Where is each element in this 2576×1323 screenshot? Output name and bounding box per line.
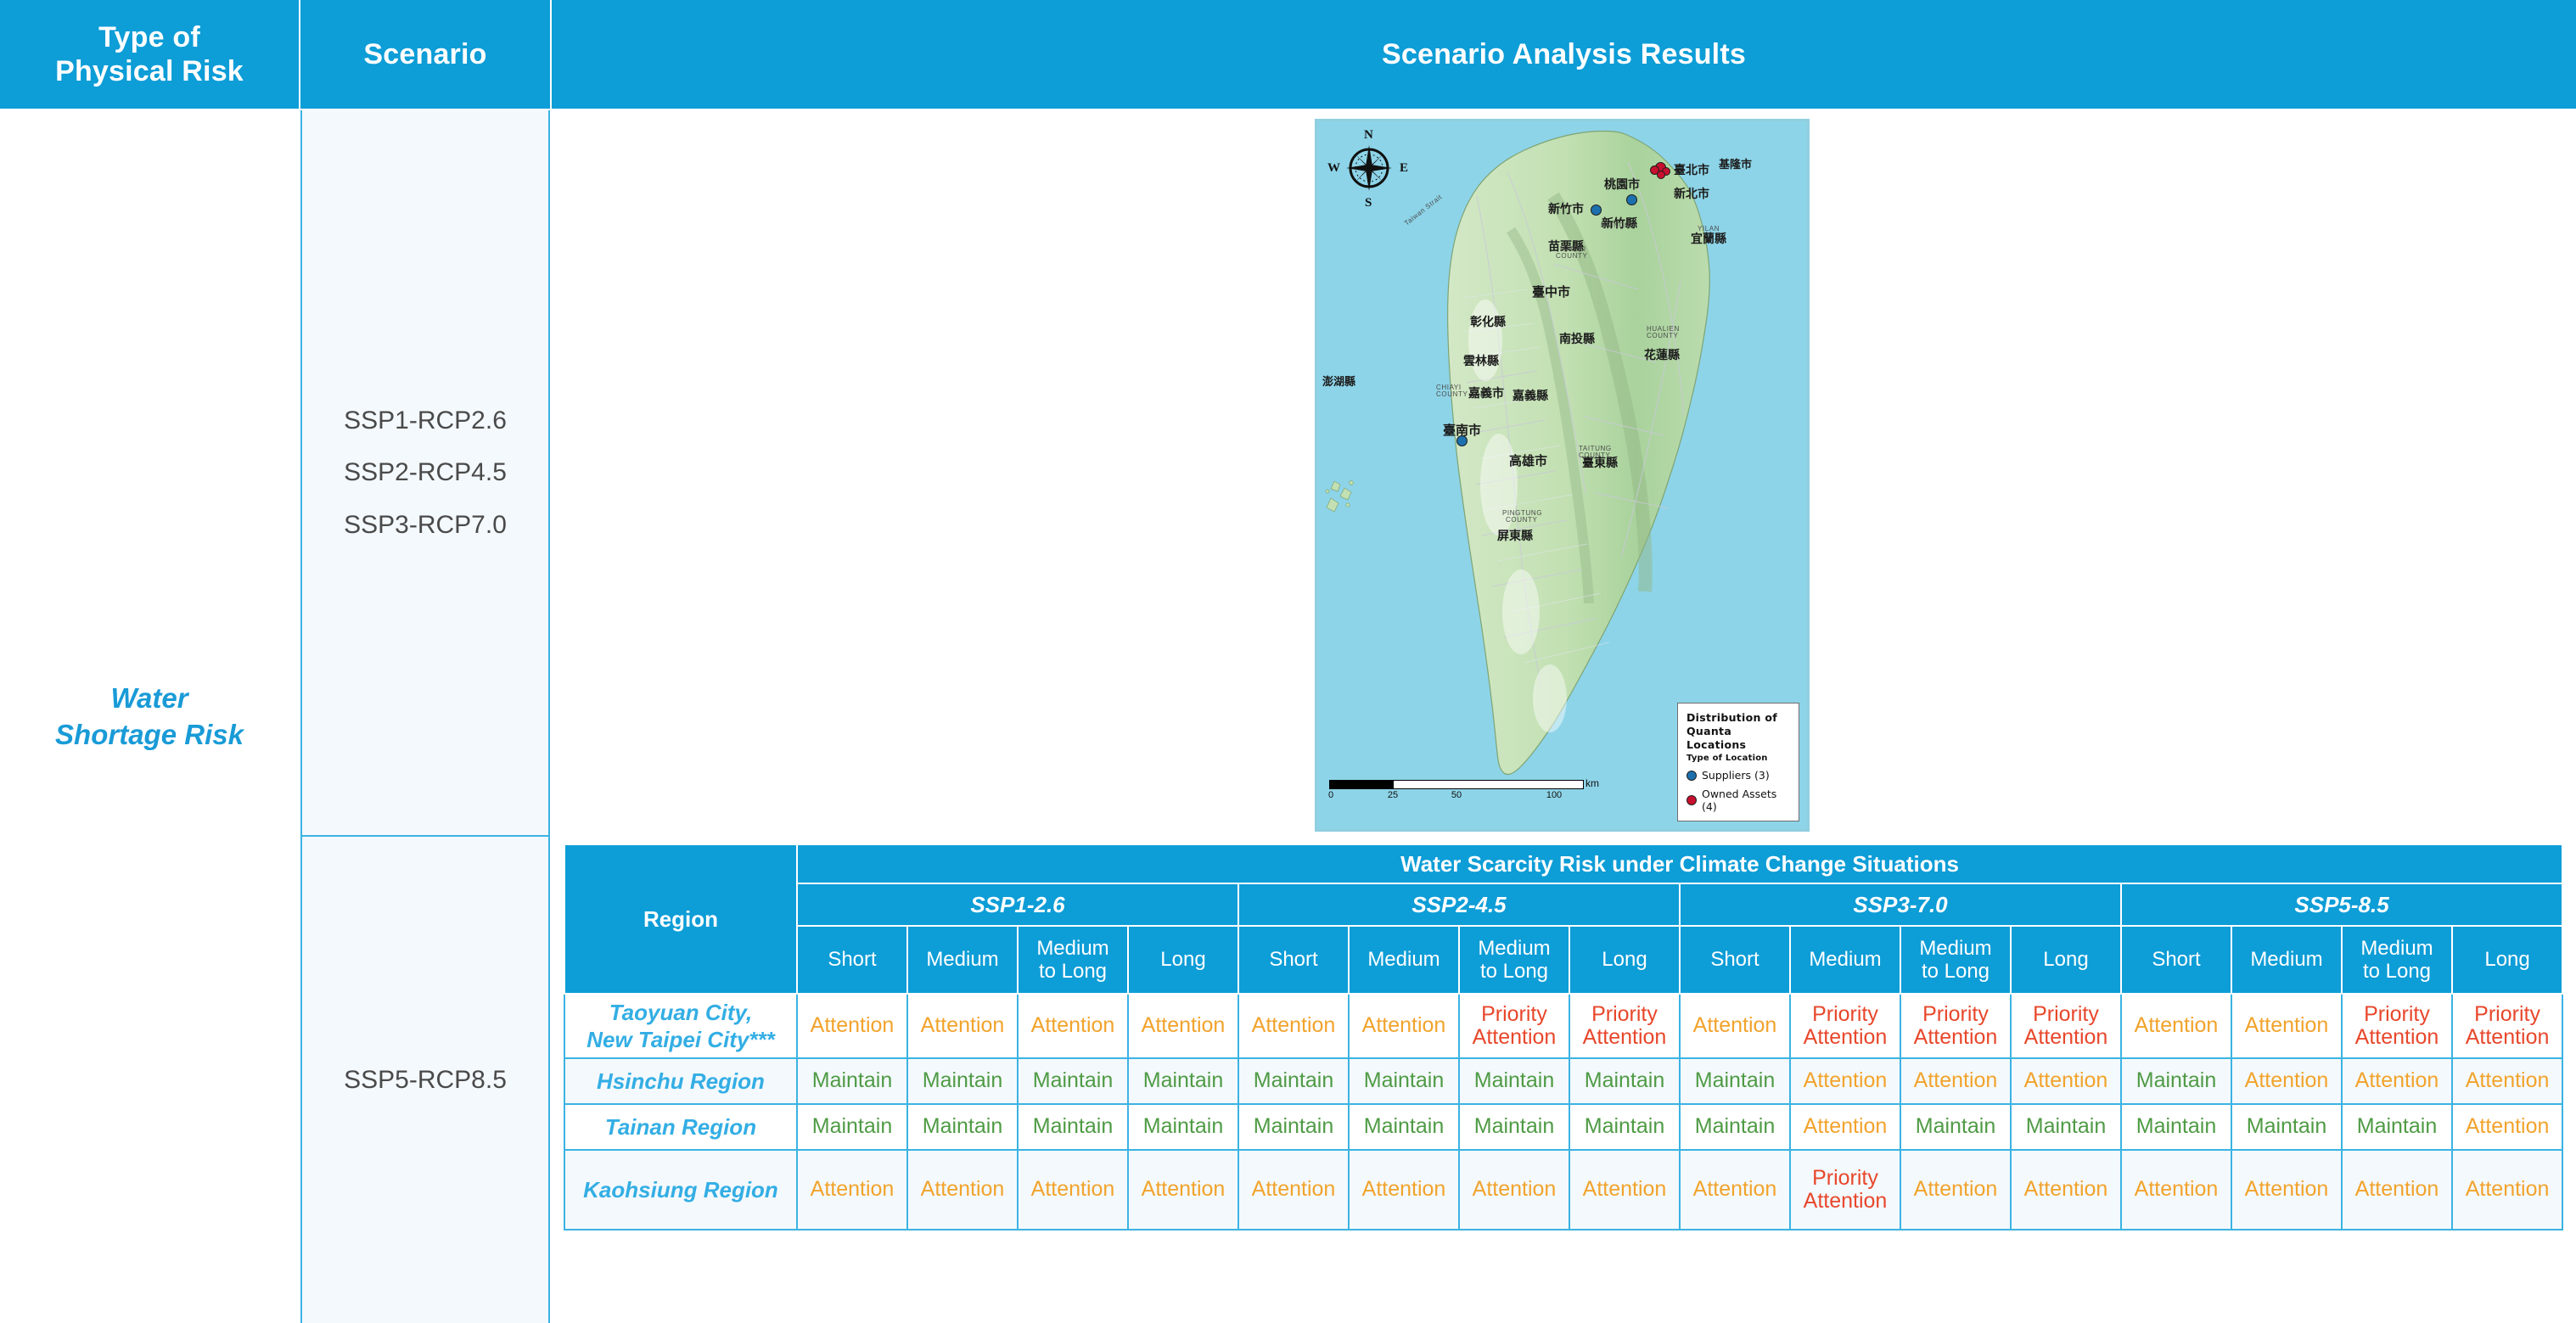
row-region-label: Tainan Region xyxy=(564,1104,797,1150)
penghu-islands xyxy=(1322,476,1367,527)
scale-tick-0: 0 xyxy=(1328,790,1333,800)
table-body: Taoyuan City,New Taipei City***Attention… xyxy=(564,994,2562,1230)
risk-cell: Attention xyxy=(1018,1150,1128,1230)
row-region-label: Kaohsiung Region xyxy=(564,1150,797,1230)
scenario-ssp2: SSP2-RCP4.5 xyxy=(344,446,507,499)
risk-cell: Attention xyxy=(2231,994,2342,1058)
map-label-pingtung-county-en: COUNTY xyxy=(1506,516,1537,524)
water-scarcity-results-table: Region Water Scarcity Risk under Climate… xyxy=(564,844,2562,1231)
th-period-0-0: Short xyxy=(797,926,907,994)
row-region-label: Taoyuan City,New Taipei City*** xyxy=(564,994,797,1058)
risk-cell: Attention xyxy=(2231,1058,2342,1104)
suppliers-marker-icon xyxy=(1686,771,1697,781)
map-label-chiayi-county-en: COUNTY xyxy=(1436,390,1468,398)
risk-cell: PriorityAttention xyxy=(1569,994,1680,1058)
risk-cell: Attention xyxy=(1018,994,1128,1058)
legend-owned-assets-label: Owned Assets (4) xyxy=(1702,788,1790,813)
risk-cell: Maintain xyxy=(1349,1058,1459,1104)
compass-rose: N S W E xyxy=(1329,130,1407,208)
legend-title-line2: Quanta Locations xyxy=(1686,725,1790,752)
risk-cell: PriorityAttention xyxy=(1900,994,2011,1058)
legend-item-suppliers: Suppliers (3) xyxy=(1686,769,1790,782)
header-scenario: Scenario xyxy=(300,0,550,109)
risk-cell: Attention xyxy=(1569,1150,1680,1230)
th-period-2-2: Mediumto Long xyxy=(1900,926,2011,994)
risk-cell: Attention xyxy=(797,994,907,1058)
th-period-3-0: Short xyxy=(2121,926,2231,994)
risk-cell: Attention xyxy=(2011,1058,2121,1104)
table-row: Tainan RegionMaintainMaintainMaintainMai… xyxy=(564,1104,2562,1150)
th-period-2-1: Medium xyxy=(1790,926,1900,994)
map-label-chiayi-county: 嘉義縣 xyxy=(1512,387,1548,404)
risk-cell: Attention xyxy=(1128,994,1238,1058)
risk-cell: Maintain xyxy=(1128,1058,1238,1104)
th-period-2-0: Short xyxy=(1680,926,1790,994)
risk-cell: Maintain xyxy=(1680,1058,1790,1104)
scenario-ssp3: SSP3-RCP7.0 xyxy=(344,499,507,552)
table-row: Taoyuan City,New Taipei City***Attention… xyxy=(564,994,2562,1058)
risk-cell: Attention xyxy=(1900,1058,2011,1104)
owned-assets-marker-icon xyxy=(1686,795,1697,805)
table-header-row-periods: ShortMediumMediumto LongLongShortMediumM… xyxy=(564,926,2562,994)
map-label-taichung: 臺中市 xyxy=(1532,283,1570,300)
map-label-hsinchu-en: HSINCHU xyxy=(1601,221,1636,229)
map-label-taipei: 臺北市 xyxy=(1674,161,1709,178)
map-label-yilan-en: YILAN xyxy=(1698,225,1720,233)
map-label-nantou: 南投縣 xyxy=(1559,330,1595,347)
compass-north-label: N xyxy=(1364,128,1373,143)
risk-cell: Attention xyxy=(797,1150,907,1230)
map-label-chiayi-city: 嘉義市 xyxy=(1468,384,1504,401)
map-label-miaoli-county-en: COUNTY xyxy=(1556,252,1587,260)
table-header-row-scenarios: SSP1-2.6 SSP2-4.5 SSP3-7.0 SSP5-8.5 xyxy=(564,883,2562,926)
risk-cell: PriorityAttention xyxy=(1459,994,1569,1058)
map-label-pingtung: 屏東縣 xyxy=(1497,527,1533,544)
compass-south-label: S xyxy=(1365,196,1372,210)
map-label-penghu: 澎湖縣 xyxy=(1322,373,1355,389)
risk-cell: PriorityAttention xyxy=(2342,994,2452,1058)
th-table-title: Water Scarcity Risk under Climate Change… xyxy=(797,844,2562,883)
risk-cell: Maintain xyxy=(2231,1104,2342,1150)
header-results: Scenario Analysis Results xyxy=(552,0,2576,109)
map-label-yunlin: 雲林縣 xyxy=(1463,352,1499,369)
map-label-yilan: 宜蘭縣 xyxy=(1691,230,1726,247)
th-group-ssp5: SSP5-8.5 xyxy=(2121,883,2562,926)
risk-cell: Maintain xyxy=(1018,1058,1128,1104)
th-period-1-1: Medium xyxy=(1349,926,1459,994)
risk-cell: Attention xyxy=(2011,1150,2121,1230)
risk-cell: Attention xyxy=(1238,1150,1349,1230)
header-risk-type: Type of Physical Risk xyxy=(0,0,299,109)
map-marker-supplier-3 xyxy=(1456,435,1468,446)
risk-cell: Attention xyxy=(1238,994,1349,1058)
map-label-hualien: 花蓮縣 xyxy=(1644,346,1680,363)
scenario-ssp5: SSP5-RCP8.5 xyxy=(344,1054,507,1107)
risk-cell: Maintain xyxy=(1569,1104,1680,1150)
th-period-3-2: Mediumto Long xyxy=(2342,926,2452,994)
risk-cell: Maintain xyxy=(1238,1058,1349,1104)
risk-cell: Maintain xyxy=(907,1104,1018,1150)
legend-suppliers-label: Suppliers (3) xyxy=(1702,769,1770,782)
risk-cell: Maintain xyxy=(2342,1104,2452,1150)
risk-cell: Maintain xyxy=(1569,1058,1680,1104)
risk-cell: Maintain xyxy=(1128,1104,1238,1150)
compass-east-label: E xyxy=(1400,161,1408,176)
th-period-1-2: Mediumto Long xyxy=(1459,926,1569,994)
scale-tick-50: 50 xyxy=(1451,790,1462,800)
risk-cell: Attention xyxy=(1680,994,1790,1058)
risk-cell: Maintain xyxy=(2011,1104,2121,1150)
risk-cell: Attention xyxy=(1790,1058,1900,1104)
risk-cell: Maintain xyxy=(2121,1058,2231,1104)
table-row: Kaohsiung RegionAttentionAttentionAttent… xyxy=(564,1150,2562,1230)
th-period-0-2: Mediumto Long xyxy=(1018,926,1128,994)
row-region-label: Hsinchu Region xyxy=(564,1058,797,1104)
risk-cell: Attention xyxy=(2121,994,2231,1058)
scenario-analysis-sheet: Type of Physical Risk Scenario Scenario … xyxy=(0,0,2576,1323)
risk-cell: Maintain xyxy=(797,1104,907,1150)
risk-cell: Maintain xyxy=(1900,1104,2011,1150)
risk-cell: Attention xyxy=(1790,1104,1900,1150)
map-marker-supplier-2 xyxy=(1591,205,1602,216)
risk-cell: PriorityAttention xyxy=(2011,994,2121,1058)
th-group-ssp3: SSP3-7.0 xyxy=(1680,883,2121,926)
risk-cell: Attention xyxy=(2452,1104,2562,1150)
risk-cell: PriorityAttention xyxy=(1790,994,1900,1058)
risk-cell: Attention xyxy=(1900,1150,2011,1230)
map-label-kaohsiung: 高雄市 xyxy=(1509,451,1547,469)
risk-cell: Attention xyxy=(2452,1150,2562,1230)
risk-cell: Attention xyxy=(2121,1150,2231,1230)
map-label-taitung-county-en: COUNTY xyxy=(1579,451,1610,459)
th-period-1-0: Short xyxy=(1238,926,1349,994)
th-period-2-3: Long xyxy=(2011,926,2121,994)
risk-cell: Attention xyxy=(2231,1150,2342,1230)
scenario-ssp1: SSP1-RCP2.6 xyxy=(344,395,507,447)
th-period-0-3: Long xyxy=(1128,926,1238,994)
scale-tick-100: 100 xyxy=(1546,790,1562,800)
risk-label-line1: Water xyxy=(110,682,188,714)
map-label-new-taipei: 新北市 xyxy=(1674,185,1709,202)
map-marker-owned-asset-4 xyxy=(1657,171,1665,179)
risk-cell: Attention xyxy=(1349,1150,1459,1230)
risk-cell: Maintain xyxy=(1459,1104,1569,1150)
scenario-cell-group-a: SSP1-RCP2.6 SSP2-RCP4.5 SSP3-RCP7.0 xyxy=(300,110,550,837)
map-label-keelung: 基隆市 xyxy=(1719,155,1752,171)
risk-cell: Attention xyxy=(1128,1150,1238,1230)
legend-item-owned-assets: Owned Assets (4) xyxy=(1686,788,1790,813)
risk-cell: Maintain xyxy=(907,1058,1018,1104)
map-label-hsinchu-city: 新竹市 xyxy=(1548,200,1584,217)
scenario-cell-group-b: SSP5-RCP8.5 xyxy=(300,837,550,1323)
map-label-changhua: 彰化縣 xyxy=(1470,313,1506,330)
risk-type-cell: Water Shortage Risk xyxy=(0,110,299,1323)
table-header-row-title: Region Water Scarcity Risk under Climate… xyxy=(564,844,2562,883)
risk-cell: Attention xyxy=(907,994,1018,1058)
th-region: Region xyxy=(564,844,797,994)
risk-cell: Attention xyxy=(2342,1150,2452,1230)
risk-label-line2: Shortage Risk xyxy=(55,719,244,750)
map-label-hualien-county-en: COUNTY xyxy=(1647,332,1678,339)
taiwan-distribution-map: N S W E 臺北市 xyxy=(1315,119,1810,832)
th-period-0-1: Medium xyxy=(907,926,1018,994)
risk-cell: Maintain xyxy=(1238,1104,1349,1150)
map-label-taoyuan: 桃園市 xyxy=(1604,176,1640,193)
header-risk-type-line2: Physical Risk xyxy=(55,54,244,88)
risk-cell: Maintain xyxy=(1459,1058,1569,1104)
risk-cell: Attention xyxy=(1349,994,1459,1058)
header-risk-type-line1: Type of xyxy=(55,20,244,54)
risk-cell: Maintain xyxy=(1018,1104,1128,1150)
map-scale-bar: km 0 25 50 100 xyxy=(1329,780,1584,804)
risk-cell: Attention xyxy=(2342,1058,2452,1104)
risk-cell: Attention xyxy=(907,1150,1018,1230)
risk-cell: Maintain xyxy=(2121,1104,2231,1150)
legend-subtitle: Type of Location xyxy=(1686,754,1790,763)
compass-west-label: W xyxy=(1327,161,1340,176)
legend-title-line1: Distribution of xyxy=(1686,711,1790,725)
risk-cell: Maintain xyxy=(1680,1104,1790,1150)
th-group-ssp2: SSP2-4.5 xyxy=(1238,883,1680,926)
risk-cell: Attention xyxy=(2452,1058,2562,1104)
th-period-3-1: Medium xyxy=(2231,926,2342,994)
risk-cell: Maintain xyxy=(797,1058,907,1104)
risk-cell: Maintain xyxy=(1349,1104,1459,1150)
th-period-1-3: Long xyxy=(1569,926,1680,994)
scale-tick-25: 25 xyxy=(1388,790,1398,800)
scale-unit-label: km xyxy=(1585,777,1599,789)
map-marker-supplier-1 xyxy=(1626,194,1637,205)
risk-cell: PriorityAttention xyxy=(1790,1150,1900,1230)
table-row: Hsinchu RegionMaintainMaintainMaintainMa… xyxy=(564,1058,2562,1104)
map-legend: Distribution of Quanta Locations Type of… xyxy=(1677,703,1799,821)
risk-cell: Attention xyxy=(1459,1150,1569,1230)
risk-cell: PriorityAttention xyxy=(2452,994,2562,1058)
risk-cell: Attention xyxy=(1680,1150,1790,1230)
th-group-ssp1: SSP1-2.6 xyxy=(797,883,1238,926)
th-period-3-3: Long xyxy=(2452,926,2562,994)
